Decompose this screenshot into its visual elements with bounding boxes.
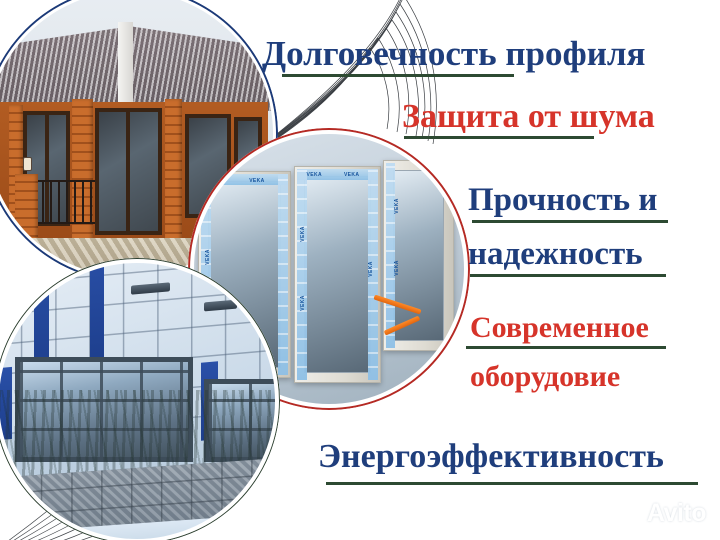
avito-watermark: Avito (617, 499, 706, 528)
headline-strength-line2: надежность (468, 238, 643, 272)
pvc-window-frame: VEKA VEKA VEKA VEKA VEKA (294, 166, 381, 384)
headline-equipment-line1-underline (466, 346, 666, 349)
headline-noise-protection: Защита от шума (402, 100, 655, 135)
window-glass (393, 170, 444, 340)
protective-film-strip (386, 163, 395, 347)
veka-logo-text: VEKA (368, 261, 374, 277)
facade-blue-accent (90, 262, 104, 368)
avito-watermark-label: Avito (647, 499, 706, 528)
house-ridge (118, 22, 132, 103)
headline-energy-efficiency: Энергоэффективность (318, 440, 664, 475)
veka-logo-text: VEKA (249, 178, 265, 184)
veka-logo-text: VEKA (300, 296, 306, 312)
headline-strength-line1-underline (472, 220, 668, 223)
photo-circle-building-facade (0, 258, 280, 540)
building-facade-photo (0, 262, 276, 540)
veka-logo-text: VEKA (393, 198, 399, 214)
headline-durability-underline (282, 74, 514, 77)
headline-strength-line2-underline (470, 274, 666, 277)
protective-film-strip (297, 169, 307, 381)
headline-equipment-line1: Современное (470, 313, 649, 344)
headline-equipment-line2: оборудовие (470, 362, 620, 393)
headline-durability: Долговечность профиля (262, 36, 645, 72)
window-glass (304, 176, 371, 374)
poster-canvas: VEKA VEKA VEKA VEKA VEKA VEKA VEKA VEKA … (0, 0, 720, 540)
veka-logo-text: VEKA (307, 172, 323, 178)
veka-logo-text: VEKA (300, 227, 306, 243)
house-corner-post (165, 99, 182, 243)
protective-film-strip (278, 174, 288, 375)
headline-noise-protection-underline (404, 136, 594, 139)
headline-energy-efficiency-underline (326, 482, 698, 485)
veka-logo-text: VEKA (344, 172, 360, 178)
veka-logo-text: VEKA (393, 260, 399, 276)
veka-logo-text: VEKA (210, 178, 226, 184)
house-corner-post (72, 99, 92, 249)
house-window (95, 108, 161, 235)
avito-dots-icon (617, 501, 642, 526)
headline-strength-line1: Прочность и (468, 184, 657, 218)
pvc-window-frame: VEKA VEKA (383, 160, 454, 350)
house-wall-lamp (23, 157, 32, 171)
